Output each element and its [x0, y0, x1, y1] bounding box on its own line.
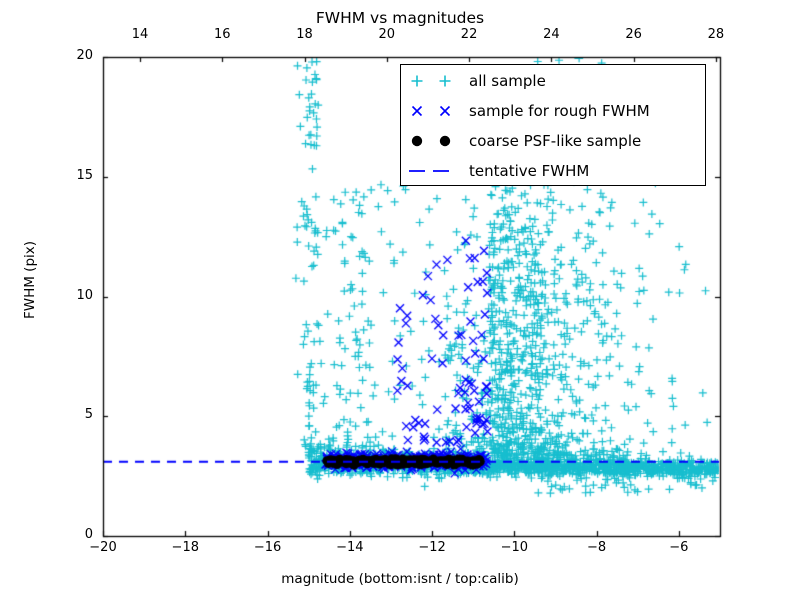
figure-canvas-container: FWHM vs magnitudes magnitude (bottom:isn… — [0, 0, 800, 600]
scatter-plot-canvas — [0, 0, 800, 600]
